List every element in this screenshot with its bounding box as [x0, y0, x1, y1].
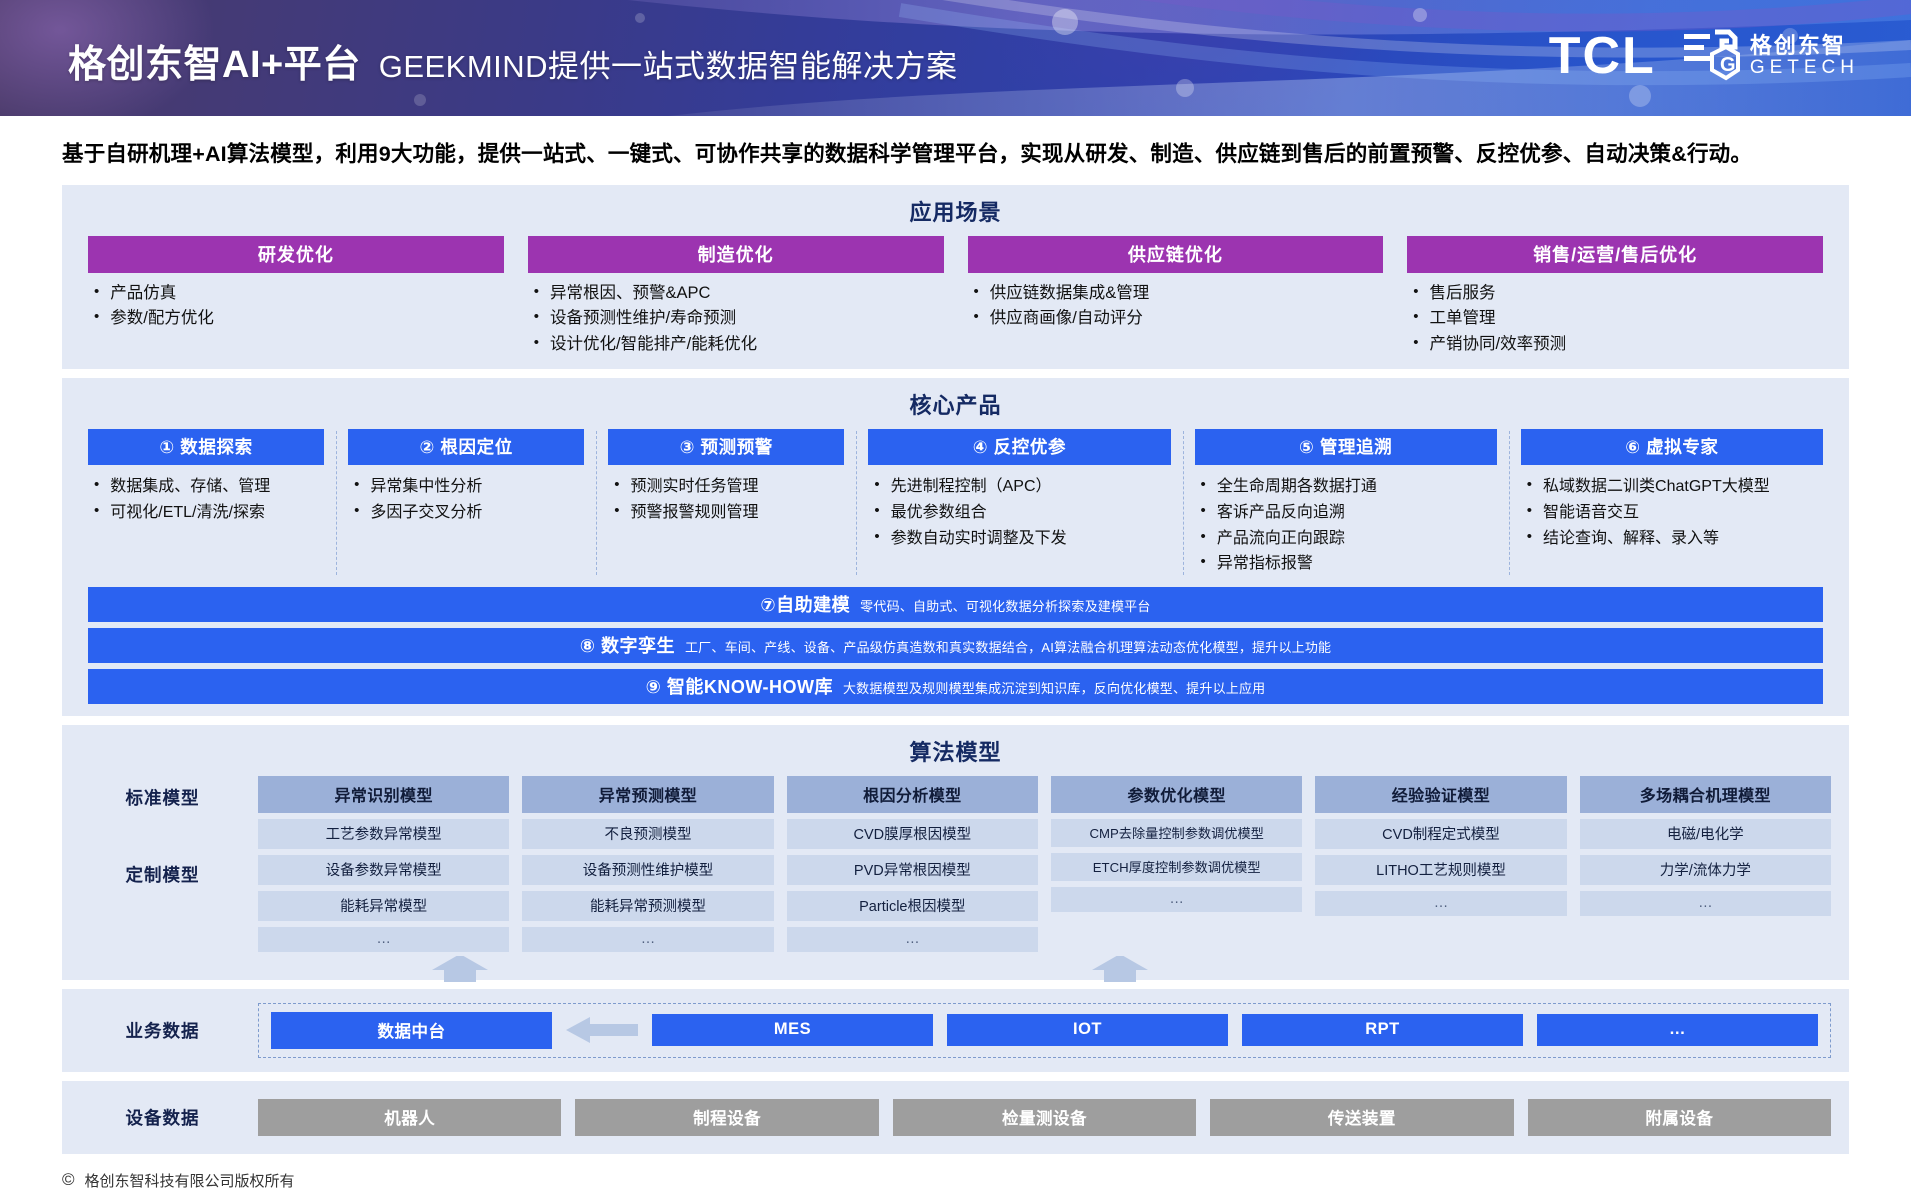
- scenario-list-manufacturing: •异常根因、预警&APC •设备预测性维护/寿命预测 •设计优化/智能排产/能耗…: [528, 281, 944, 358]
- business-chip-more[interactable]: …: [1537, 1014, 1818, 1046]
- bullet-dot-icon: •: [534, 332, 539, 355]
- core-product-bar-8[interactable]: ⑧ 数字孪生 工厂、车间、产线、设备、产品级仿真造数和真实数据结合，AI算法融合…: [88, 628, 1823, 663]
- core-product-list-3: •预测实时任务管理 •预警报警规则管理: [608, 474, 844, 525]
- business-chip-mes[interactable]: MES: [652, 1014, 933, 1046]
- list-item-label: 参数/配方优化: [110, 306, 214, 332]
- list-item: •产销协同/效率预测: [1407, 332, 1823, 358]
- algorithm-cell: CVD制程定式模型: [1315, 819, 1566, 849]
- list-item: •参数/配方优化: [88, 306, 504, 332]
- header-logos: TCL G 格创东智 GETECH: [1549, 28, 1859, 84]
- list-item: •参数自动实时调整及下发: [868, 526, 1170, 552]
- bullet-dot-icon: •: [1201, 474, 1206, 497]
- list-item-label: 先进制程控制（APC）: [891, 474, 1052, 500]
- bullet-dot-icon: •: [974, 281, 979, 304]
- core-product-header-5: ⑤ 管理追溯: [1195, 429, 1497, 465]
- list-item: •先进制程控制（APC）: [868, 474, 1170, 500]
- list-item-label: 多因子交叉分析: [370, 500, 482, 526]
- list-item-label: 预测实时任务管理: [630, 474, 758, 500]
- getech-name-en: GETECH: [1750, 58, 1859, 78]
- list-item-label: 设备预测性维护/寿命预测: [550, 306, 736, 332]
- core-product-column-3[interactable]: ③ 预测预警 •预测实时任务管理 •预警报警规则管理: [596, 429, 856, 576]
- list-item: •产品仿真: [88, 281, 504, 307]
- tcl-logo: TCL: [1549, 30, 1656, 82]
- algorithm-cell: 不良预测模型: [522, 819, 773, 849]
- core-product-bar-7-title: ⑦自助建模: [760, 591, 850, 617]
- list-item-label: 产销协同/效率预测: [1430, 332, 1567, 358]
- list-item: •最优参数组合: [868, 500, 1170, 526]
- equipment-chip-metrology[interactable]: 检量测设备: [893, 1099, 1196, 1136]
- list-item: •售后服务: [1407, 281, 1823, 307]
- list-item-label: 智能语音交互: [1543, 500, 1639, 526]
- core-products-row: ① 数据探索 •数据集成、存储、管理 •可视化/ETL/清洗/探索 ② 根因定位…: [62, 429, 1849, 576]
- equipment-data-chips: 机器人 制程设备 检量测设备 传送装置 附属设备: [258, 1097, 1831, 1138]
- bullet-dot-icon: •: [94, 474, 99, 497]
- list-item-label: 结论查询、解释、录入等: [1543, 526, 1719, 552]
- equipment-chip-auxiliary[interactable]: 附属设备: [1528, 1099, 1831, 1136]
- equipment-chip-robot[interactable]: 机器人: [258, 1099, 561, 1136]
- algorithm-cell: LITHO工艺规则模型: [1315, 855, 1566, 885]
- algorithm-header-4: 参数优化模型: [1051, 776, 1302, 813]
- algorithm-column-2[interactable]: 异常预测模型 不良预测模型 设备预测性维护模型 能耗异常预测模型 …: [522, 776, 773, 952]
- algorithm-cell-ellipsis: …: [258, 927, 509, 952]
- equipment-chip-conveyor[interactable]: 传送装置: [1210, 1099, 1513, 1136]
- algorithm-cell-ellipsis: …: [1580, 891, 1831, 916]
- core-product-list-2: •异常集中性分析 •多因子交叉分析: [348, 474, 584, 525]
- copyright-text: 格创东智科技有限公司版权所有: [85, 1170, 295, 1191]
- algorithm-column-3[interactable]: 根因分析模型 CVD膜厚根因模型 PVD异常根因模型 Particle根因模型 …: [787, 776, 1038, 952]
- scenario-header-sales: 销售/运营/售后优化: [1407, 236, 1823, 273]
- list-item-label: 私域数据二训类ChatGPT大模型: [1543, 474, 1770, 500]
- list-item: •预警报警规则管理: [608, 500, 844, 526]
- list-item: •产品流向正向跟踪: [1195, 526, 1497, 552]
- algorithm-column-5[interactable]: 经验验证模型 CVD制程定式模型 LITHO工艺规则模型 …: [1315, 776, 1566, 916]
- left-arrow-icon: [566, 1017, 638, 1043]
- algorithm-column-4[interactable]: 参数优化模型 CMP去除量控制参数调优模型 ETCH厚度控制参数调优模型 …: [1051, 776, 1302, 912]
- list-item: •异常指标报警: [1195, 551, 1497, 577]
- bullet-dot-icon: •: [1527, 526, 1532, 549]
- algorithm-cell: ETCH厚度控制参数调优模型: [1051, 853, 1302, 881]
- algorithm-cell-ellipsis: …: [1051, 887, 1302, 912]
- getech-logo: G 格创东智 GETECH: [1682, 28, 1859, 84]
- algorithm-cell: CMP去除量控制参数调优模型: [1051, 819, 1302, 847]
- list-item-label: 供应商画像/自动评分: [990, 306, 1143, 332]
- list-item: •全生命周期各数据打通: [1195, 474, 1497, 500]
- list-item-label: 异常根因、预警&APC: [550, 281, 710, 307]
- list-item: •可视化/ETL/清洗/探索: [88, 500, 324, 526]
- bullet-dot-icon: •: [354, 500, 359, 523]
- bullet-dot-icon: •: [1413, 306, 1418, 329]
- business-data-panel: 业务数据 数据中台 MES IOT RPT …: [62, 989, 1849, 1072]
- svg-text:G: G: [1720, 54, 1736, 76]
- list-item: •设计优化/智能排产/能耗优化: [528, 332, 944, 358]
- scenario-list-sales: •售后服务 •工单管理 •产销协同/效率预测: [1407, 281, 1823, 358]
- algorithm-header-2: 异常预测模型: [522, 776, 773, 813]
- bullet-dot-icon: •: [614, 474, 619, 497]
- bullet-dot-icon: •: [94, 500, 99, 523]
- algorithm-cell: 设备预测性维护模型: [522, 855, 773, 885]
- core-product-column-2[interactable]: ② 根因定位 •异常集中性分析 •多因子交叉分析: [336, 429, 596, 576]
- core-product-list-5: •全生命周期各数据打通 •客诉产品反向追溯 •产品流向正向跟踪 •异常指标报警: [1195, 474, 1497, 576]
- core-product-bar-9-desc: 大数据模型及规则模型集成沉淀到知识库，反向优化模型、提升以上应用: [843, 678, 1265, 697]
- scenario-list-rd: •产品仿真 •参数/配方优化: [88, 281, 504, 332]
- list-item-label: 产品流向正向跟踪: [1217, 526, 1345, 552]
- algorithm-cell: PVD异常根因模型: [787, 855, 1038, 885]
- algorithm-cell: 设备参数异常模型: [258, 855, 509, 885]
- scenario-column-supply-chain[interactable]: 供应链优化 •供应链数据集成&管理 •供应商画像/自动评分: [956, 236, 1396, 358]
- page-subtitle: GEEKMIND提供一站式数据智能解决方案: [379, 41, 958, 86]
- core-product-bar-9[interactable]: ⑨ 智能KNOW-HOW库 大数据模型及规则模型集成沉淀到知识库，反向优化模型、…: [88, 669, 1823, 704]
- equipment-data-grid: 设备数据 机器人 制程设备 检量测设备 传送装置 附属设备: [62, 1097, 1849, 1138]
- algorithm-cell-ellipsis: …: [1315, 891, 1566, 916]
- core-product-bar-7-desc: 零代码、自助式、可视化数据分析探索及建模平台: [860, 596, 1150, 615]
- algorithm-cell: 能耗异常模型: [258, 891, 509, 921]
- list-item-label: 异常指标报警: [1217, 551, 1313, 577]
- scenario-header-supply-chain: 供应链优化: [968, 236, 1384, 273]
- algorithm-header-1: 异常识别模型: [258, 776, 509, 813]
- business-data-chips: 数据中台 MES IOT RPT …: [258, 1003, 1831, 1058]
- core-product-list-4: •先进制程控制（APC） •最优参数组合 •参数自动实时调整及下发: [868, 474, 1170, 551]
- core-product-list-1: •数据集成、存储、管理 •可视化/ETL/清洗/探索: [88, 474, 324, 525]
- list-item: •设备预测性维护/寿命预测: [528, 306, 944, 332]
- getech-wordmark: 格创东智 GETECH: [1750, 34, 1859, 77]
- upward-flow-arrows: [62, 956, 1849, 982]
- list-item-label: 客诉产品反向追溯: [1217, 500, 1345, 526]
- list-item-label: 供应链数据集成&管理: [990, 281, 1150, 307]
- business-chip-iot[interactable]: IOT: [947, 1014, 1228, 1046]
- algorithm-cell: CVD膜厚根因模型: [787, 819, 1038, 849]
- business-data-label: 业务数据: [80, 1018, 245, 1043]
- bullet-dot-icon: •: [874, 474, 879, 497]
- list-item-label: 售后服务: [1430, 281, 1496, 307]
- bullet-dot-icon: •: [94, 306, 99, 329]
- algorithm-cell-ellipsis: …: [522, 927, 773, 952]
- scenarios-title: 应用场景: [62, 195, 1849, 227]
- bullet-dot-icon: •: [1413, 332, 1418, 355]
- bullet-dot-icon: •: [874, 526, 879, 549]
- bullet-dot-icon: •: [534, 306, 539, 329]
- algorithm-label-custom: 定制模型: [80, 862, 245, 887]
- scenarios-row: 研发优化 •产品仿真 •参数/配方优化 制造优化 •异常根因、预警&APC •设…: [62, 236, 1849, 358]
- bullet-dot-icon: •: [1201, 526, 1206, 549]
- algorithm-models-title: 算法模型: [62, 735, 1849, 767]
- algorithm-cell: 能耗异常预测模型: [522, 891, 773, 921]
- scenarios-panel: 应用场景 研发优化 •产品仿真 •参数/配方优化 制造优化 •异常根因、预警&A…: [62, 185, 1849, 370]
- list-item: •智能语音交互: [1521, 500, 1823, 526]
- scenario-list-supply-chain: •供应链数据集成&管理 •供应商画像/自动评分: [968, 281, 1384, 332]
- core-product-header-3: ③ 预测预警: [608, 429, 844, 465]
- bullet-dot-icon: •: [354, 474, 359, 497]
- core-product-bar-7[interactable]: ⑦自助建模 零代码、自助式、可视化数据分析探索及建模平台: [88, 587, 1823, 622]
- bullet-dot-icon: •: [1413, 281, 1418, 304]
- core-product-list-6: •私域数据二训类ChatGPT大模型 •智能语音交互 •结论查询、解释、录入等: [1521, 474, 1823, 551]
- scenario-header-manufacturing: 制造优化: [528, 236, 944, 273]
- copyright-icon: ©: [62, 1170, 75, 1190]
- list-item-label: 产品仿真: [110, 281, 176, 307]
- core-product-bars: ⑦自助建模 零代码、自助式、可视化数据分析探索及建模平台 ⑧ 数字孪生 工厂、车…: [62, 587, 1849, 704]
- core-product-bar-8-desc: 工厂、车间、产线、设备、产品级仿真造数和真实数据结合，AI算法融合机理算法动态优…: [685, 637, 1331, 656]
- list-item-label: 设计优化/智能排产/能耗优化: [550, 332, 757, 358]
- list-item-label: 工单管理: [1430, 306, 1496, 332]
- core-product-header-1: ① 数据探索: [88, 429, 324, 465]
- algorithm-cell: 力学/流体力学: [1580, 855, 1831, 885]
- algorithm-label-standard: 标准模型: [80, 785, 245, 810]
- algorithm-header-3: 根因分析模型: [787, 776, 1038, 813]
- list-item-label: 数据集成、存储、管理: [110, 474, 270, 500]
- core-product-column-6[interactable]: ⑥ 虚拟专家 •私域数据二训类ChatGPT大模型 •智能语音交互 •结论查询、…: [1509, 429, 1835, 576]
- business-chip-rpt[interactable]: RPT: [1242, 1014, 1523, 1046]
- scenario-column-rd[interactable]: 研发优化 •产品仿真 •参数/配方优化: [76, 236, 516, 358]
- bullet-dot-icon: •: [874, 500, 879, 523]
- scenario-header-rd: 研发优化: [88, 236, 504, 273]
- list-item: •客诉产品反向追溯: [1195, 500, 1497, 526]
- algorithm-cell: 工艺参数异常模型: [258, 819, 509, 849]
- list-item: •预测实时任务管理: [608, 474, 844, 500]
- bullet-dot-icon: •: [1527, 474, 1532, 497]
- algorithm-column-1[interactable]: 异常识别模型 工艺参数异常模型 设备参数异常模型 能耗异常模型 …: [258, 776, 509, 952]
- list-item: •私域数据二训类ChatGPT大模型: [1521, 474, 1823, 500]
- bullet-dot-icon: •: [614, 500, 619, 523]
- list-item: •多因子交叉分析: [348, 500, 584, 526]
- algorithm-header-5: 经验验证模型: [1315, 776, 1566, 813]
- core-products-title: 核心产品: [62, 388, 1849, 420]
- core-product-bar-9-title: ⑨ 智能KNOW-HOW库: [646, 673, 833, 699]
- footer: © 格创东智科技有限公司版权所有: [62, 1170, 1849, 1191]
- bullet-dot-icon: •: [1527, 500, 1532, 523]
- list-item-label: 全生命周期各数据打通: [1217, 474, 1377, 500]
- equipment-data-label: 设备数据: [80, 1105, 245, 1130]
- list-item: •工单管理: [1407, 306, 1823, 332]
- page-header: 格创东智AI+平台 GEEKMIND提供一站式数据智能解决方案 TCL G 格创…: [0, 0, 1911, 116]
- list-item-label: 预警报警规则管理: [630, 500, 758, 526]
- algorithm-models-grid: 标准模型 定制模型 异常识别模型 工艺参数异常模型 设备参数异常模型 能耗异常模…: [62, 776, 1849, 952]
- bullet-dot-icon: •: [1201, 551, 1206, 574]
- scenario-column-sales[interactable]: 销售/运营/售后优化 •售后服务 •工单管理 •产销协同/效率预测: [1395, 236, 1835, 358]
- list-item-label: 最优参数组合: [891, 500, 987, 526]
- list-item-label: 可视化/ETL/清洗/探索: [110, 500, 265, 526]
- equipment-data-panel: 设备数据 机器人 制程设备 检量测设备 传送装置 附属设备: [62, 1081, 1849, 1154]
- header-title-group: 格创东智AI+平台 GEEKMIND提供一站式数据智能解决方案: [68, 33, 958, 88]
- core-product-column-1[interactable]: ① 数据探索 •数据集成、存储、管理 •可视化/ETL/清洗/探索: [76, 429, 336, 576]
- core-product-header-6: ⑥ 虚拟专家: [1521, 429, 1823, 465]
- bullet-dot-icon: •: [1201, 500, 1206, 523]
- algorithm-cell: Particle根因模型: [787, 891, 1038, 921]
- core-product-header-2: ② 根因定位: [348, 429, 584, 465]
- core-product-column-5[interactable]: ⑤ 管理追溯 •全生命周期各数据打通 •客诉产品反向追溯 •产品流向正向跟踪 •…: [1183, 429, 1509, 576]
- equipment-chip-process[interactable]: 制程设备: [575, 1099, 878, 1136]
- algorithm-cell-ellipsis: …: [787, 927, 1038, 952]
- getech-name-cn: 格创东智: [1750, 34, 1859, 57]
- list-item: •供应商画像/自动评分: [968, 306, 1384, 332]
- algorithm-column-6[interactable]: 多场耦合机理模型 电磁/电化学 力学/流体力学 …: [1580, 776, 1831, 916]
- core-products-panel: 核心产品 ① 数据探索 •数据集成、存储、管理 •可视化/ETL/清洗/探索 ②…: [62, 378, 1849, 715]
- algorithm-models-panel: 算法模型 标准模型 定制模型 异常识别模型 工艺参数异常模型 设备参数异常模型 …: [62, 725, 1849, 980]
- list-item: •结论查询、解释、录入等: [1521, 526, 1823, 552]
- algorithm-header-6: 多场耦合机理模型: [1580, 776, 1831, 813]
- algorithm-cell: 电磁/电化学: [1580, 819, 1831, 849]
- scenario-column-manufacturing[interactable]: 制造优化 •异常根因、预警&APC •设备预测性维护/寿命预测 •设计优化/智能…: [516, 236, 956, 358]
- business-chip-data-midend[interactable]: 数据中台: [271, 1012, 552, 1049]
- list-item-label: 异常集中性分析: [370, 474, 482, 500]
- business-data-grid: 业务数据 数据中台 MES IOT RPT …: [62, 1003, 1849, 1058]
- bullet-dot-icon: •: [534, 281, 539, 304]
- list-item: •异常根因、预警&APC: [528, 281, 944, 307]
- algorithm-row-labels: 标准模型 定制模型: [80, 776, 245, 887]
- core-product-bar-8-title: ⑧ 数字孪生: [580, 632, 675, 658]
- intro-paragraph: 基于自研机理+AI算法模型，利用9大功能，提供一站式、一键式、可协作共享的数据科…: [62, 138, 1849, 171]
- list-item: •数据集成、存储、管理: [88, 474, 324, 500]
- bullet-dot-icon: •: [974, 306, 979, 329]
- bullet-dot-icon: •: [94, 281, 99, 304]
- list-item: •异常集中性分析: [348, 474, 584, 500]
- getech-mark-icon: G: [1682, 28, 1740, 84]
- list-item-label: 参数自动实时调整及下发: [891, 526, 1067, 552]
- core-product-column-4[interactable]: ④ 反控优参 •先进制程控制（APC） •最优参数组合 •参数自动实时调整及下发: [856, 429, 1182, 576]
- page-title: 格创东智AI+平台: [68, 33, 361, 88]
- list-item: •供应链数据集成&管理: [968, 281, 1384, 307]
- core-product-header-4: ④ 反控优参: [868, 429, 1170, 465]
